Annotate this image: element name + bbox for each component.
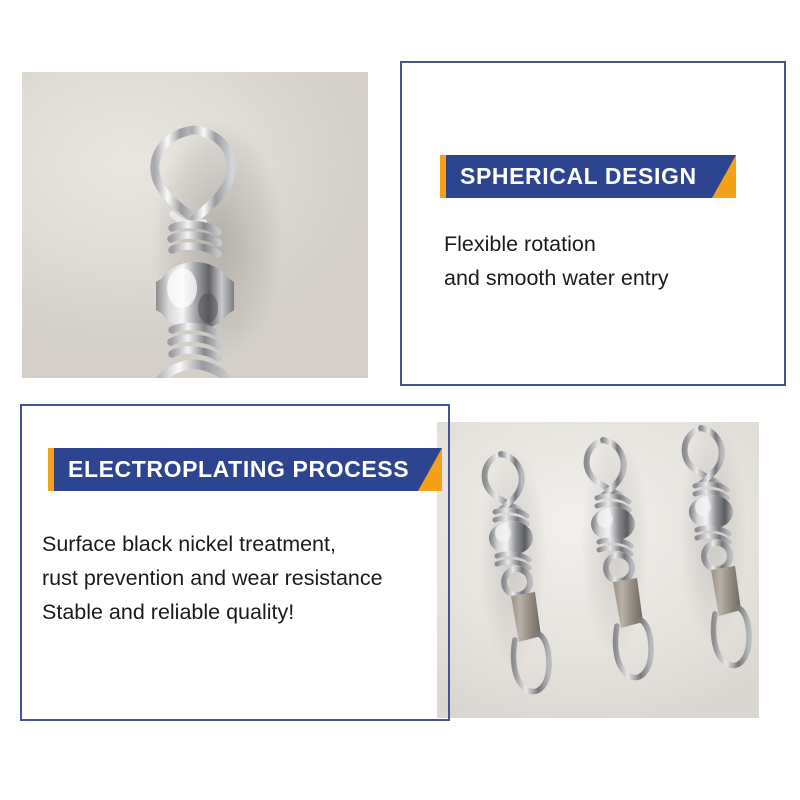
banner-body: SPHERICAL DESIGN (446, 155, 736, 198)
infographic-canvas: SPHERICAL DESIGN Flexible rotation and s… (0, 0, 800, 800)
copy-spherical-design: Flexible rotation and smooth water entry (444, 227, 669, 295)
top-section-frame (400, 61, 786, 386)
banner-title: ELECTROPLATING PROCESS (68, 458, 409, 481)
copy-line: and smooth water entry (444, 261, 669, 295)
banner-accent-bar (440, 155, 446, 198)
banner-spherical-design: SPHERICAL DESIGN (440, 155, 736, 198)
barrel-swivel-single-photo (22, 72, 368, 378)
copy-line: Flexible rotation (444, 227, 669, 261)
barrel-swivel-snap-illustration (437, 422, 759, 718)
barrel-swivel-trio-photo (437, 422, 759, 718)
copy-line: rust prevention and wear resistance (42, 561, 383, 595)
banner-body: ELECTROPLATING PROCESS (54, 448, 442, 491)
banner-electroplating-process: ELECTROPLATING PROCESS (48, 448, 442, 491)
copy-line: Stable and reliable quality! (42, 595, 383, 629)
barrel-swivel-illustration (22, 72, 368, 378)
banner-accent-bar (48, 448, 54, 491)
copy-electroplating-process: Surface black nickel treatment, rust pre… (42, 527, 383, 629)
copy-line: Surface black nickel treatment, (42, 527, 383, 561)
banner-title: SPHERICAL DESIGN (460, 165, 697, 188)
